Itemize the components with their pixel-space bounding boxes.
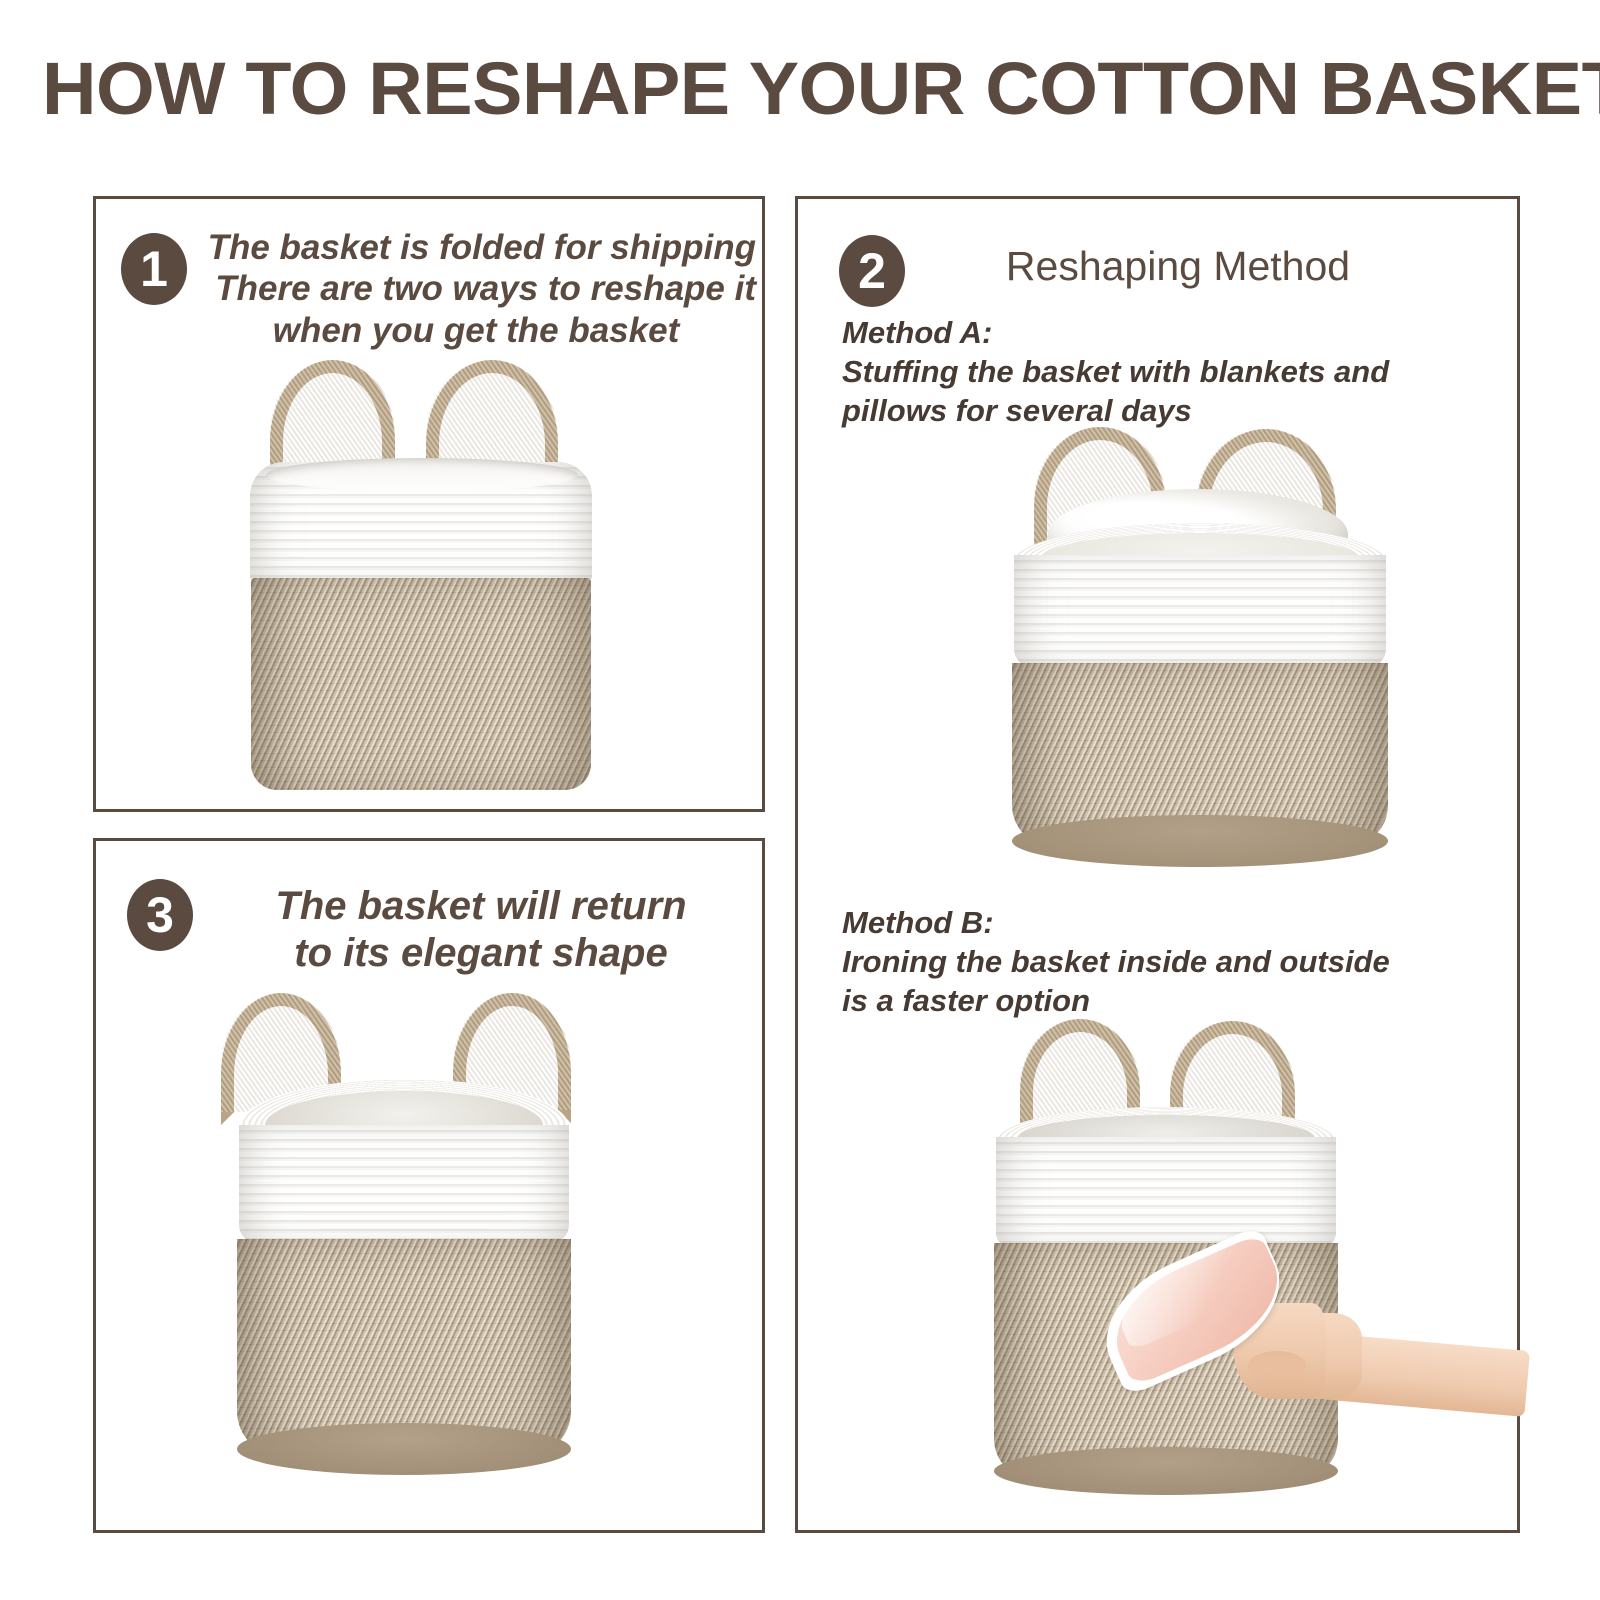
basket-base-shadow: [1012, 815, 1388, 867]
page-title: HOW TO RESHAPE YOUR COTTON BASKET: [42, 52, 1592, 126]
method-b-text: Method B: Ironing the basket inside and …: [842, 904, 1442, 1020]
basket-tan-body: [251, 578, 591, 790]
method-a-text: Method A: Stuffing the basket with blank…: [842, 314, 1442, 430]
step-1-line-1: The basket is folded for shipping: [208, 228, 756, 267]
method-a-label: Method A:: [842, 315, 992, 350]
step-3-line-2: to its elegant shape: [294, 931, 667, 975]
step-1-line-3: when you get the basket: [196, 310, 756, 351]
basket-base-shadow: [237, 1423, 571, 1475]
step-1-badge: 1: [121, 233, 187, 305]
step-1-panel: 1 The basket is folded for shipping Ther…: [93, 196, 765, 812]
method-a-line-2: pillows for several days: [842, 393, 1192, 428]
method-b-label: Method B:: [842, 905, 994, 940]
knuckle-shade: [1248, 1351, 1306, 1381]
folded-basket-image: [228, 354, 648, 799]
step-3-badge: 3: [127, 879, 193, 951]
reshaping-method-heading: Reshaping Method: [963, 243, 1393, 290]
step-3-text: The basket will return to its elegant sh…: [216, 883, 746, 977]
step-2-badge: 2: [839, 235, 905, 307]
step-1-text: The basket is folded for shipping There …: [196, 227, 756, 351]
step-3-panel: 3 The basket will return to its elegant …: [93, 838, 765, 1533]
step-2-panel: 2 Reshaping Method Method A: Stuffing th…: [795, 196, 1520, 1533]
step-3-line-1: The basket will return: [275, 884, 686, 928]
ironing-basket-image: [948, 1011, 1508, 1511]
basket-top-opening: [266, 458, 578, 492]
basket-white-band: [239, 1125, 569, 1243]
method-a-line-1: Stuffing the basket with blankets and: [842, 354, 1389, 389]
method-b-line-1: Ironing the basket inside and outside: [842, 944, 1390, 979]
stuffed-basket-image: [976, 427, 1446, 867]
basket-base-shadow: [994, 1447, 1338, 1495]
basket-white-band: [996, 1137, 1336, 1247]
reshaped-basket-image: [201, 991, 671, 1501]
basket-white-band: [1014, 555, 1386, 667]
step-1-line-2: There are two ways to reshape it: [215, 269, 756, 308]
